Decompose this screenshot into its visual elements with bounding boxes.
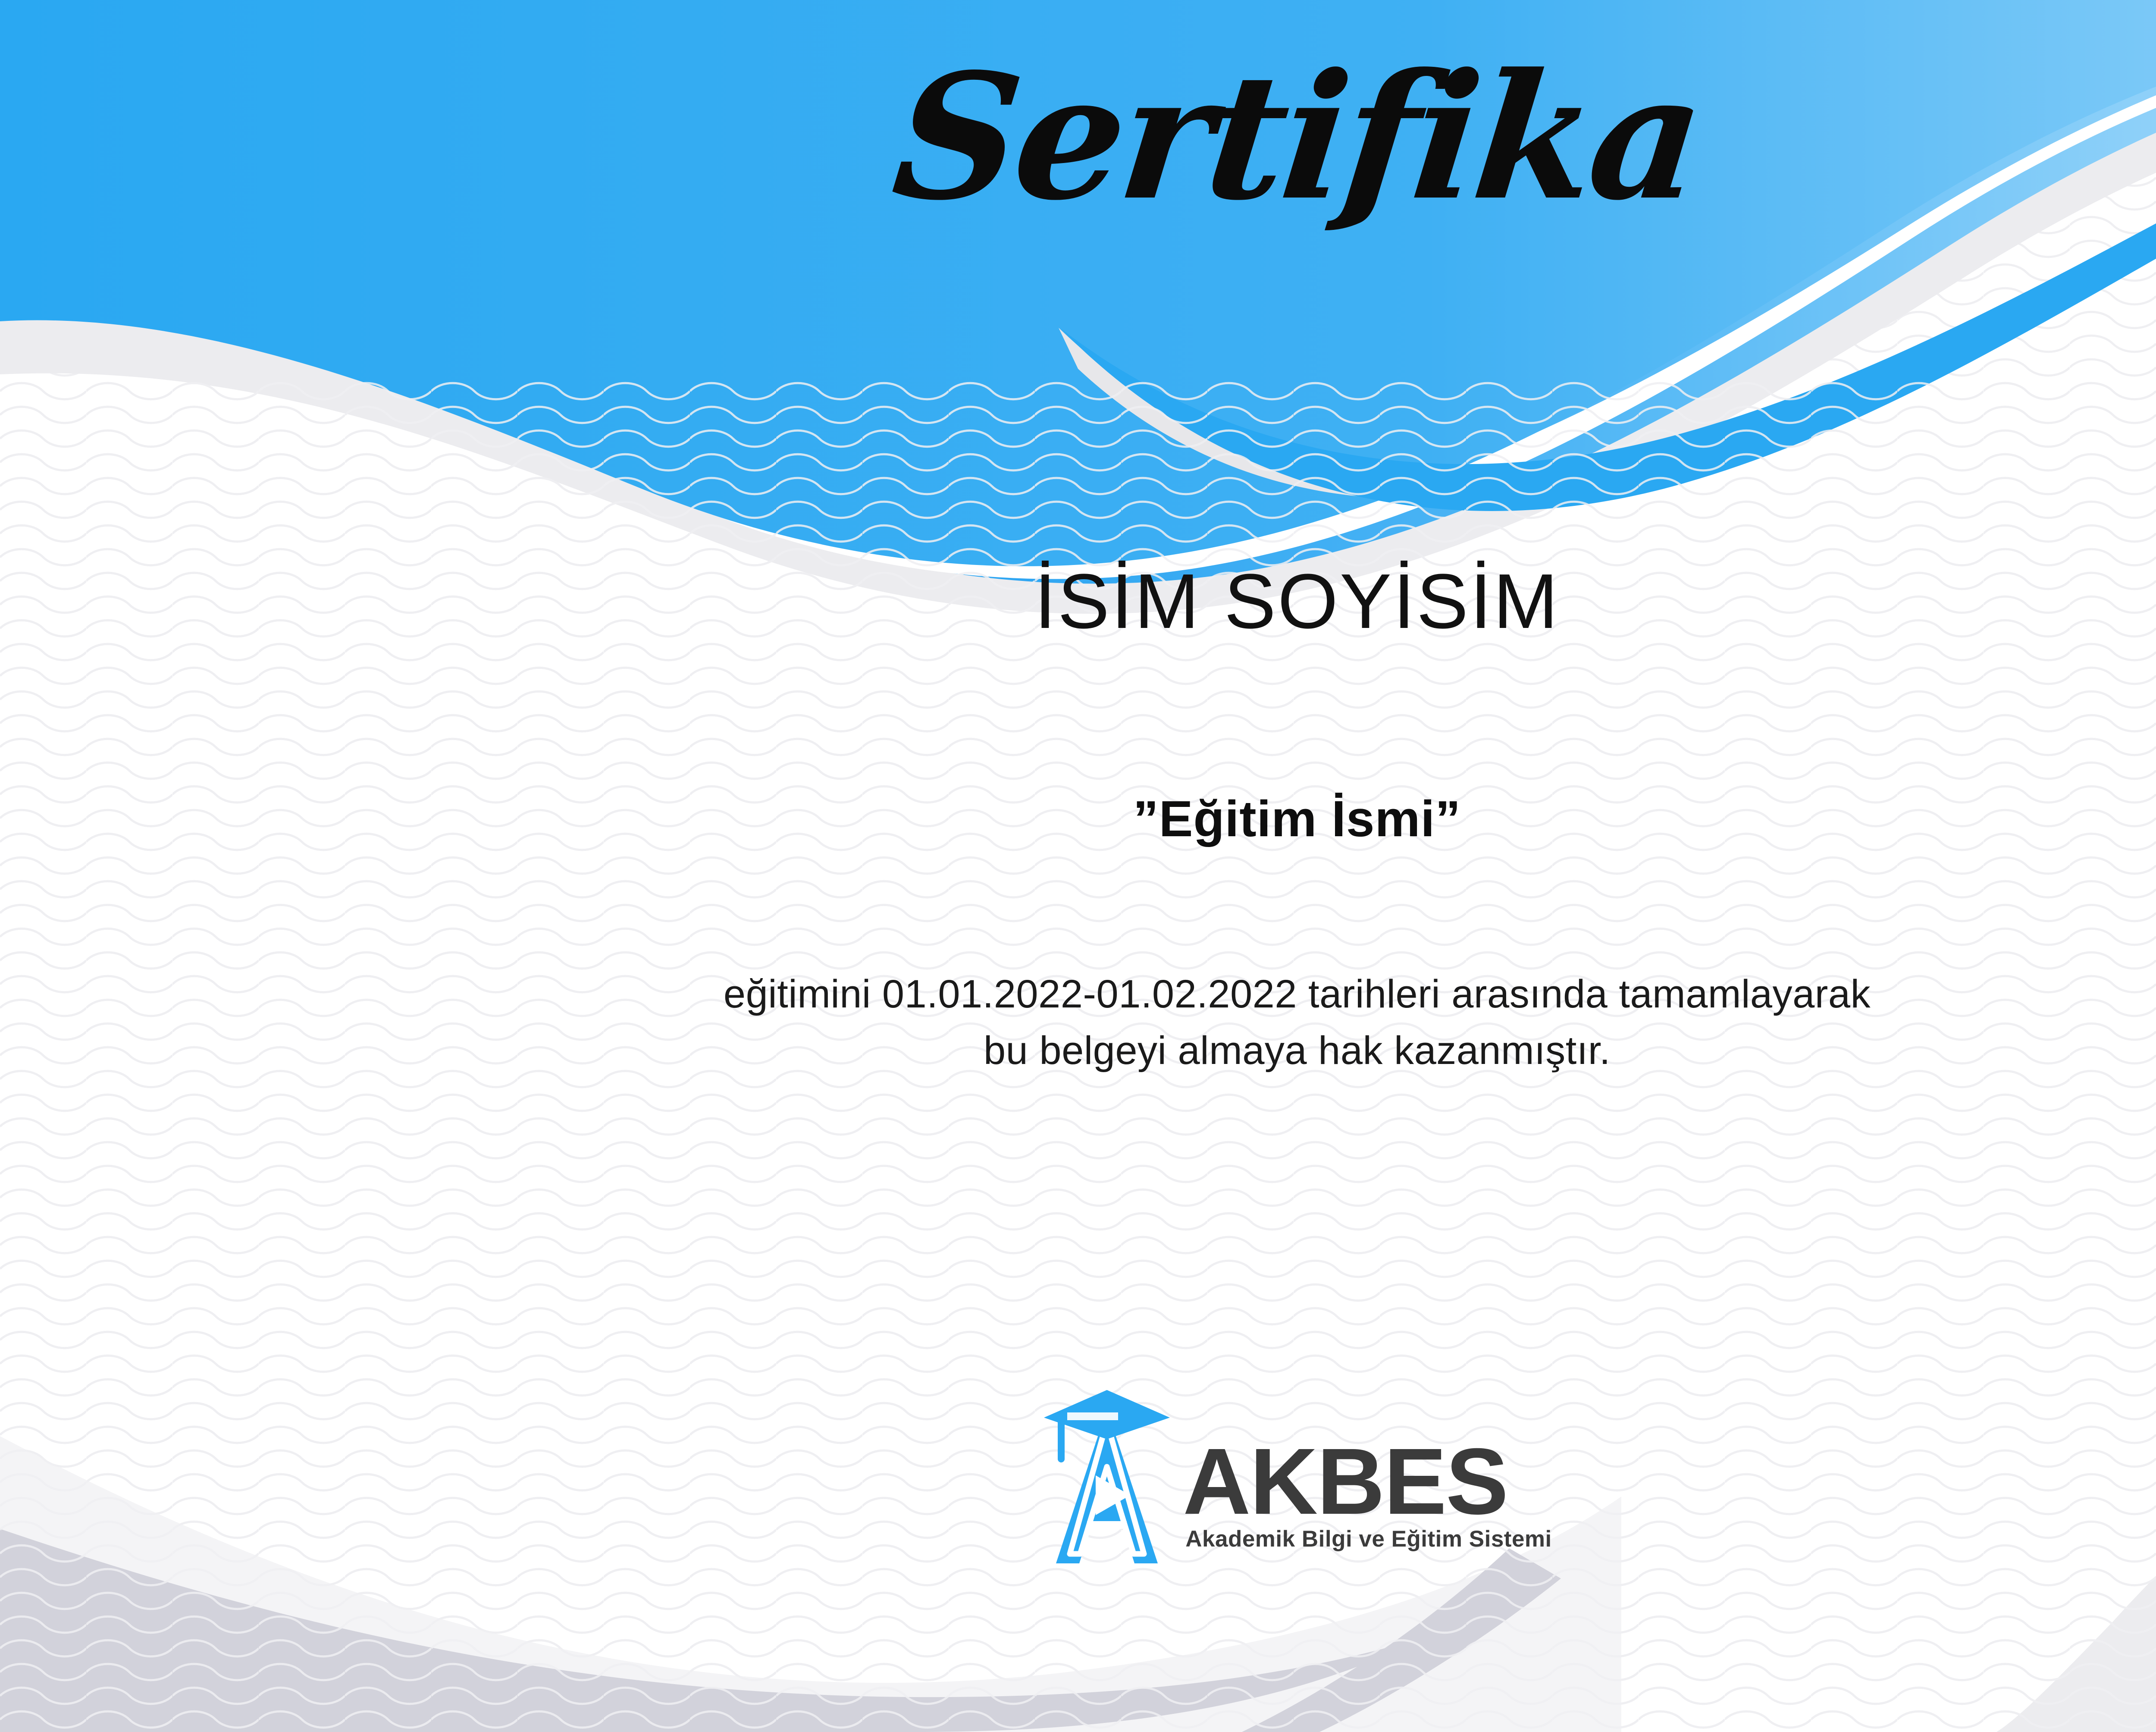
body-line-1: eğitimini 01.01.2022-01.02.2022 tarihler… bbox=[0, 966, 2156, 1023]
certificate-page: Sertifika İSİM SOYİSİM ”Eğitim İsmi” eği… bbox=[0, 0, 2156, 1732]
graduation-cap-a-play-icon bbox=[1042, 1382, 1172, 1563]
body-line-2: bu belgeyi almaya hak kazanmıştır. bbox=[0, 1023, 2156, 1079]
logo-wordmark: AKBES Akademik Bilgi ve Eğitim Sistemi bbox=[1183, 1392, 1552, 1554]
course-name: ”Eğitim İsmi” bbox=[0, 794, 2156, 844]
certificate-title: Sertifika bbox=[0, 47, 2156, 228]
certificate-content: Sertifika İSİM SOYİSİM ”Eğitim İsmi” eği… bbox=[0, 0, 2156, 1732]
recipient-name: İSİM SOYİSİM bbox=[0, 563, 2156, 640]
akbes-logo: AKBES Akademik Bilgi ve Eğitim Sistemi bbox=[0, 1382, 2156, 1563]
logo-name: AKBES bbox=[1183, 1439, 1507, 1525]
certificate-body: eğitimini 01.01.2022-01.02.2022 tarihler… bbox=[0, 966, 2156, 1079]
logo-tagline: Akademik Bilgi ve Eğitim Sistemi bbox=[1183, 1525, 1552, 1553]
